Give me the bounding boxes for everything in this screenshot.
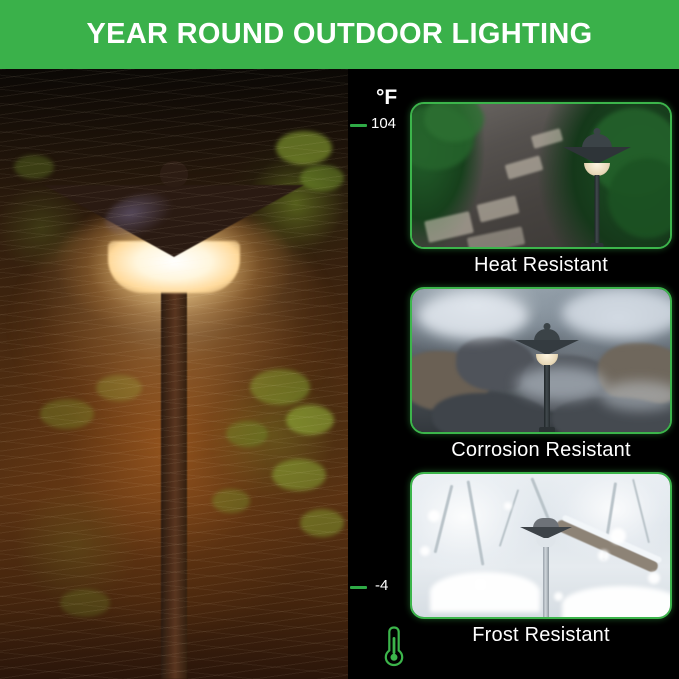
snowflake (554, 592, 563, 601)
snowflake (428, 510, 440, 522)
fixture-post (595, 175, 600, 245)
pathway-light-fixture (516, 518, 576, 619)
pathway-light-fixture (562, 128, 632, 248)
snowflake (504, 502, 512, 510)
feature-card-heat-resistant[interactable]: Heat Resistant (410, 102, 672, 277)
fixture-post (544, 365, 550, 429)
features-panel: °F 104 -4 (348, 69, 679, 679)
snow-mound (562, 586, 672, 619)
snowflake (420, 546, 430, 556)
fixture-shade (563, 147, 631, 164)
feature-caption-frost-resistant: Frost Resistant (410, 624, 672, 647)
fixture-shade (515, 340, 579, 355)
page-title: YEAR ROUND OUTDOOR LIGHTING (87, 18, 593, 51)
snowflake (474, 578, 487, 591)
snowflake (598, 550, 609, 561)
snowflake (610, 528, 626, 544)
fixture-base (538, 617, 554, 619)
fixture-post (543, 547, 549, 619)
fixture-dome (582, 134, 612, 148)
pathway-light-in-rocky-steam-photo (410, 287, 672, 434)
temperature-low-label: -4 (375, 577, 388, 594)
pathway-light-on-stone-walkway-photo (410, 102, 672, 249)
temperature-range-scale: °F 104 -4 (348, 69, 410, 679)
feature-card-frost-resistant[interactable]: Frost Resistant (410, 472, 672, 647)
steam-cloud (600, 381, 672, 411)
rain-streaks-secondary (0, 69, 348, 679)
temperature-gradient-bar (385, 113, 404, 641)
hero-photo-rain-scene: IP65 Waterproof (0, 69, 348, 679)
tick-mark-high (350, 124, 367, 127)
tick-mark-low (350, 586, 367, 589)
feature-caption-corrosion-resistant: Corrosion Resistant (410, 439, 672, 462)
product-feature-infographic: YEAR ROUND OUTDOOR LIGHTING (0, 0, 679, 679)
pathway-light-fixture (512, 323, 582, 434)
fixture-base (539, 427, 555, 433)
pathway-light-in-snow-photo (410, 472, 672, 619)
feature-caption-heat-resistant: Heat Resistant (410, 254, 672, 277)
temperature-unit-label: °F (376, 86, 397, 110)
feature-card-corrosion-resistant[interactable]: Corrosion Resistant (410, 287, 672, 462)
header-banner: YEAR ROUND OUTDOOR LIGHTING (0, 0, 679, 69)
thermometer-icon (380, 623, 408, 667)
feature-card-list: Heat Resistant (410, 69, 679, 679)
snowflake (648, 572, 660, 584)
temperature-high-label: 104 (371, 115, 396, 132)
fixture-base (591, 243, 604, 248)
